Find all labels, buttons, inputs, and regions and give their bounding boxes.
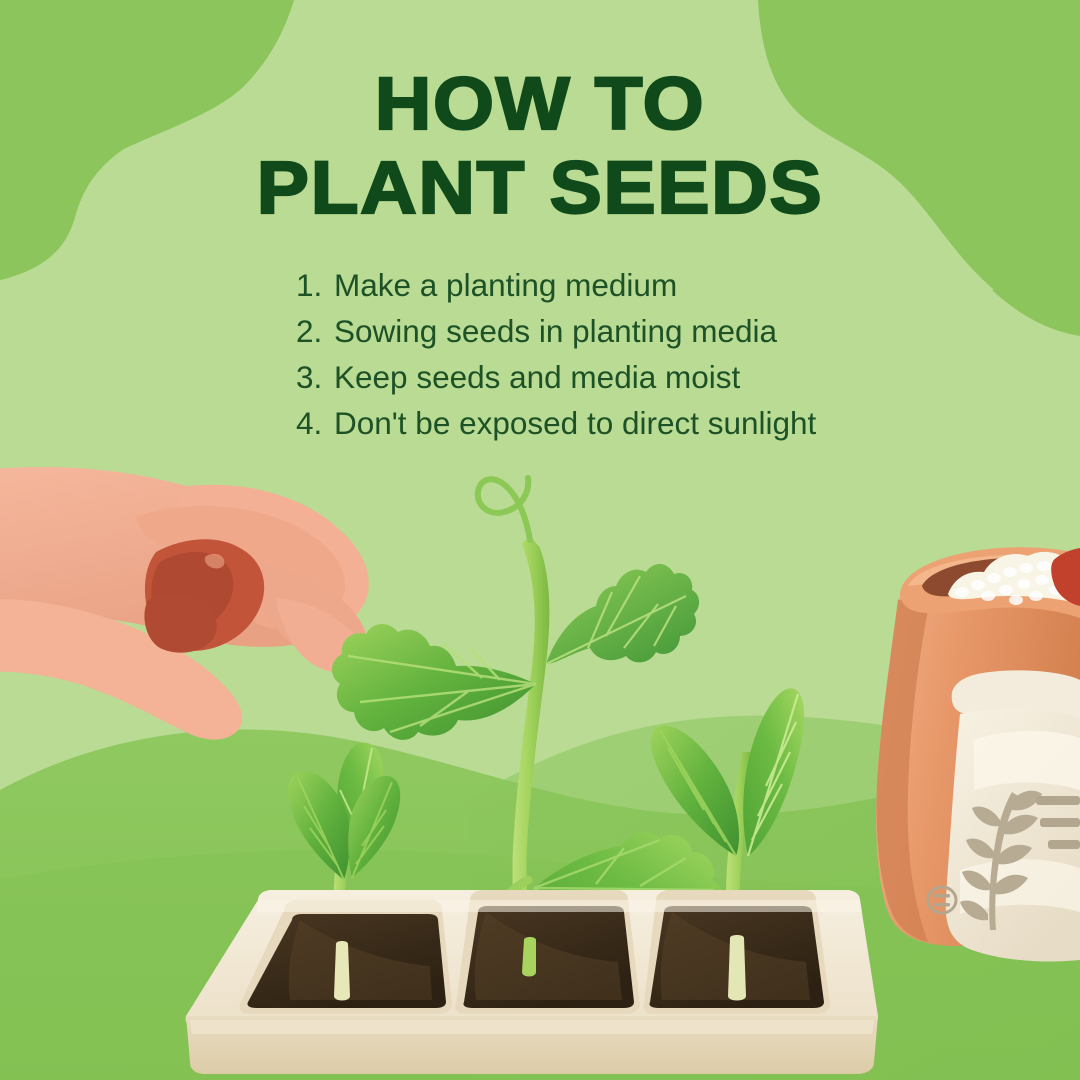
steps-list: 1. Make a planting medium 2. Sowing seed… (296, 268, 816, 452)
page-title: HOW TO PLANT SEEDS (0, 62, 1080, 230)
stem-base-center (522, 937, 536, 977)
list-item: 4. Don't be exposed to direct sunlight (296, 406, 816, 440)
list-item-label: Make a planting medium (334, 268, 677, 302)
title-line-2: PLANT SEEDS (0, 146, 1080, 230)
list-item-label: Keep seeds and media moist (334, 360, 740, 394)
stem-base-right (728, 935, 746, 1001)
list-item-number: 4. (296, 406, 334, 440)
list-item-number: 3. (296, 360, 334, 394)
stem-base-left (334, 941, 350, 1001)
tray-front-highlight (190, 1020, 874, 1034)
list-item-number: 2. (296, 314, 334, 348)
list-item: 2. Sowing seeds in planting media (296, 314, 816, 348)
infographic-poster: HOW TO PLANT SEEDS 1. Make a planting me… (0, 0, 1080, 1080)
tray-rim-highlight (256, 900, 862, 912)
list-item-label: Sowing seeds in planting media (334, 314, 777, 348)
title-line-1: HOW TO (0, 62, 1080, 146)
list-item-label: Don't be exposed to direct sunlight (334, 406, 816, 440)
list-item: 3. Keep seeds and media moist (296, 360, 816, 394)
list-item: 1. Make a planting medium (296, 268, 816, 302)
list-item-number: 1. (296, 268, 334, 302)
